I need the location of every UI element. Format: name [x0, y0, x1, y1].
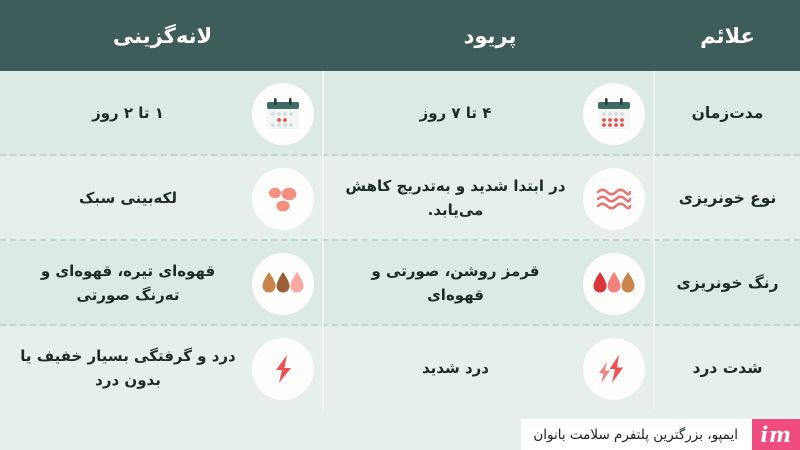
column-header-implantation: لانه‌گزینی: [0, 0, 325, 71]
cell-period-text: قرمز روشن، صورتی و قهوه‌ای: [338, 260, 573, 307]
brand-logo-icon: im: [752, 419, 800, 450]
table-row: مدت‌زمان: [0, 71, 800, 156]
row-label: نوع خونریزی: [679, 187, 777, 209]
blood-drops-icon: [583, 253, 645, 315]
spotting-drops-icon: [252, 168, 314, 230]
cell-period-text: ۴ تا ۷ روز: [338, 102, 573, 125]
calendar-icon: [583, 83, 645, 145]
column-header-period: پریود: [325, 0, 655, 71]
row-label-cell: شدت درد: [655, 326, 800, 411]
cell-implantation: درد و گرفتگی بسیار خفیف یا بدون درد: [0, 326, 324, 411]
cell-period-text: در ابتدا شدید و به‌تدریج کاهش می‌یابد.: [338, 175, 573, 222]
column-header-symptom-label: علائم: [700, 24, 755, 48]
cell-period: ۴ تا ۷ روز: [324, 71, 655, 156]
row-label: رنگ خونریزی: [676, 272, 778, 294]
footer-tagline-wrap: ایمپو، بزرگترین پلتفرم سلامت بانوان: [521, 419, 752, 450]
cell-implantation: قهوه‌ای تیره، قهوه‌ای و ته‌رنگ صورتی: [0, 241, 324, 326]
footer-branding-bar: im ایمپو، بزرگترین پلتفرم سلامت بانوان: [521, 419, 800, 450]
cell-implantation-text: درد و گرفتگی بسیار خفیف یا بدون درد: [14, 345, 242, 392]
cell-implantation-text: لکه‌بینی سبک: [14, 187, 242, 210]
cell-implantation-text: ۱ تا ۲ روز: [14, 102, 242, 125]
row-label-cell: مدت‌زمان: [655, 71, 800, 156]
cell-implantation: ۱ تا ۲ روز: [0, 71, 324, 156]
table-row: رنگ خونریزی قرمز روشن، صورتی و قهوه‌ای: [0, 241, 800, 326]
column-header-symptom: علائم: [655, 0, 800, 71]
column-divider-right: [653, 71, 655, 410]
table-body: مدت‌زمان: [0, 71, 800, 450]
cell-implantation: لکه‌بینی سبک: [0, 156, 324, 241]
brand-logo-text: im: [760, 422, 791, 447]
cell-period: قرمز روشن، صورتی و قهوه‌ای: [324, 241, 655, 326]
table-row: نوع خونریزی در ابتدا شدید و به‌تدریج کاه…: [0, 156, 800, 241]
table-header: علائم پریود لانه‌گزینی: [0, 0, 800, 71]
cell-implantation-text: قهوه‌ای تیره، قهوه‌ای و ته‌رنگ صورتی: [14, 260, 242, 307]
double-lightning-icon: [583, 338, 645, 400]
cell-period: در ابتدا شدید و به‌تدریج کاهش می‌یابد.: [324, 156, 655, 241]
calendar-icon: [252, 83, 314, 145]
table-row: شدت درد درد شدید درد و گرفتگی بسیار: [0, 326, 800, 411]
cell-period: درد شدید: [324, 326, 655, 411]
blood-drops-icon: [252, 253, 314, 315]
row-label-cell: نوع خونریزی: [655, 156, 800, 241]
column-divider-left: [322, 71, 324, 410]
column-header-implantation-label: لانه‌گزینی: [113, 24, 212, 48]
row-label: مدت‌زمان: [692, 102, 764, 124]
row-label: شدت درد: [693, 357, 763, 379]
column-header-period-label: پریود: [464, 24, 517, 48]
row-label-cell: رنگ خونریزی: [655, 241, 800, 326]
comparison-infographic: علائم پریود لانه‌گزینی مدت‌زمان: [0, 0, 800, 450]
single-lightning-icon: [252, 338, 314, 400]
footer-tagline: ایمپو، بزرگترین پلتفرم سلامت بانوان: [533, 427, 738, 443]
cell-period-text: درد شدید: [338, 357, 573, 380]
wavy-flow-icon: [583, 168, 645, 230]
